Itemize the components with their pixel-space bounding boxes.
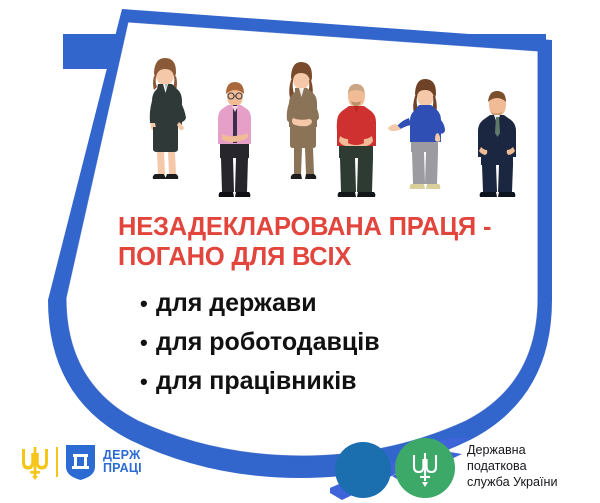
state-tax-service-logo: Державна податкова служба України	[330, 432, 600, 503]
person-man-pink-shirt	[218, 82, 251, 197]
trident-icon	[18, 443, 52, 481]
person-man-red-polo	[337, 84, 376, 197]
person-woman-brown-suit	[287, 62, 319, 188]
logo-divider	[56, 447, 58, 477]
headline: НЕЗАДЕКЛАРОВАНА ПРАЦЯ - ПОГАНО ДЛЯ ВСІХ	[118, 212, 538, 272]
bullet-marker-icon: •	[140, 284, 156, 323]
shield-icon	[64, 443, 97, 481]
person-woman-blue-top	[388, 79, 445, 190]
derzhpratsi-line-1: ДЕРЖ	[103, 449, 142, 463]
tax-service-line-1: Державна	[467, 442, 558, 458]
tax-service-emblem	[330, 432, 600, 503]
bullet-marker-icon: •	[140, 323, 156, 362]
headline-line-2: ПОГАНО ДЛЯ ВСІХ	[118, 242, 538, 272]
headline-line-1: НЕЗАДЕКЛАРОВАНА ПРАЦЯ -	[118, 212, 538, 242]
person-woman-dark-suit	[150, 58, 186, 186]
list-item-label: для працівників	[156, 362, 357, 401]
list-item: • для роботодавців	[140, 323, 540, 362]
list-item-label: для держави	[156, 284, 317, 323]
infographic-poster: НЕЗАДЕКЛАРОВАНА ПРАЦЯ - ПОГАНО ДЛЯ ВСІХ …	[0, 0, 600, 503]
list-item: • для працівників	[140, 362, 540, 401]
list-item: • для держави	[140, 284, 540, 323]
bullet-list: • для держави • для роботодавців • для п…	[140, 284, 540, 401]
person-man-navy-suit	[478, 91, 516, 197]
derzhpratsi-line-2: ПРАЦІ	[103, 462, 142, 476]
tax-service-line-3: служба України	[467, 474, 558, 490]
tax-service-line-2: податкова	[467, 458, 558, 474]
bullet-marker-icon: •	[140, 362, 156, 401]
derzhpratsi-wordmark: ДЕРЖ ПРАЦІ	[103, 449, 142, 476]
derzhpratsi-logo: ДЕРЖ ПРАЦІ	[18, 443, 142, 481]
list-item-label: для роботодавців	[156, 323, 380, 362]
tax-service-wordmark: Державна податкова служба України	[467, 442, 558, 491]
